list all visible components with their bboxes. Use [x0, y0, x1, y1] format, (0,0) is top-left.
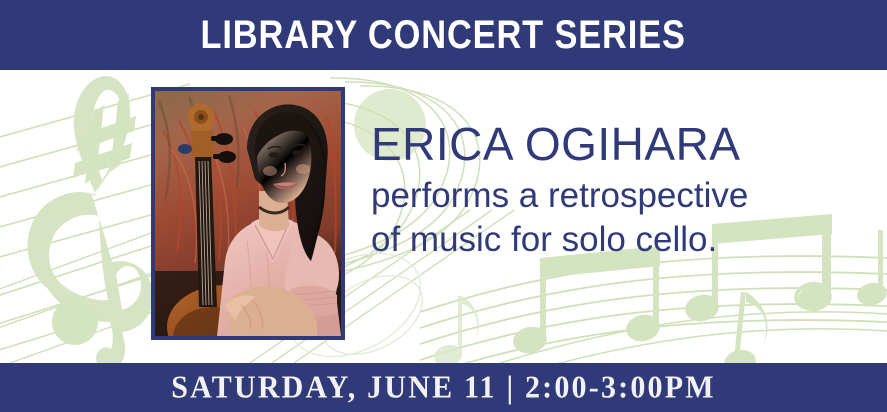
performer-name: ERICA OGIHARA — [371, 120, 871, 168]
performer-description-line-1: performs a retrospective — [371, 174, 871, 217]
performer-photo-image — [155, 91, 341, 336]
staff-lines-right — [420, 256, 887, 363]
performer-description: performs a retrospective of music for so… — [371, 174, 871, 261]
footer-banner: SATURDAY, JUNE 11 | 2:00-3:00PM — [0, 363, 887, 412]
treble-clef-icon — [28, 76, 153, 363]
header-banner: LIBRARY CONCERT SERIES — [0, 0, 887, 70]
staff-lines-right-secondary — [500, 312, 887, 363]
concert-poster: LIBRARY CONCERT SERIES — [0, 0, 887, 412]
performer-text-block: ERICA OGIHARA performs a retrospective o… — [371, 120, 871, 261]
small-notes-bottom — [432, 296, 479, 363]
sharp-sign-icon — [73, 93, 136, 184]
page-title: LIBRARY CONCERT SERIES — [201, 15, 686, 55]
beamed-eighth-notes-left — [511, 246, 663, 356]
performer-description-line-2: of music for solo cello. — [371, 218, 871, 261]
event-date-time: SATURDAY, JUNE 11 | 2:00-3:00PM — [171, 372, 716, 404]
clef-dot — [52, 299, 98, 345]
performer-photo — [151, 87, 345, 340]
eighth-note-flag-icon — [722, 292, 768, 363]
